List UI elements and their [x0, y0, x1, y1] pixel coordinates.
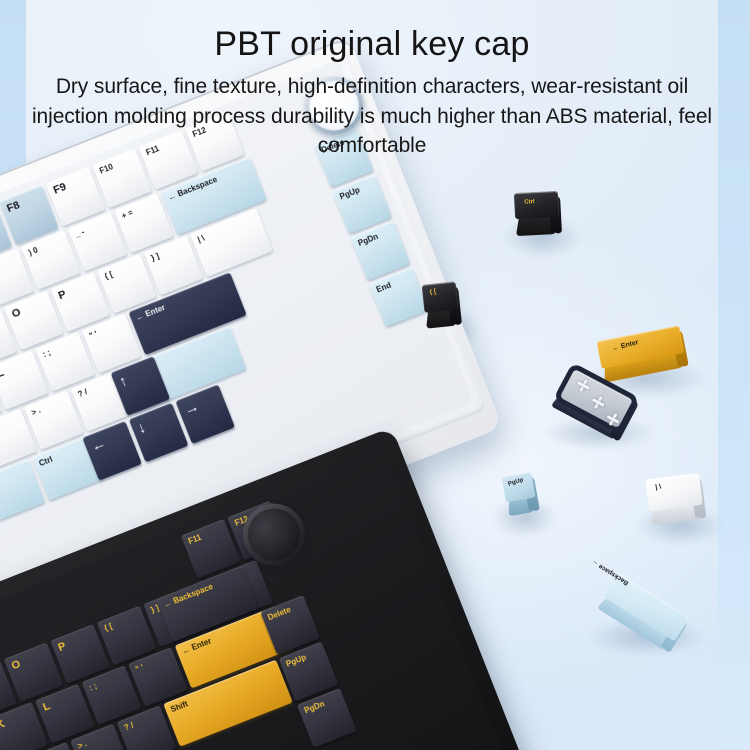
product-image-canvas: PBT original key cap Dry surface, fine t…	[0, 0, 750, 750]
floating-keycap[interactable]: { [	[422, 281, 461, 331]
floating-keycap[interactable]: Ctrl	[514, 191, 560, 239]
keycap-top-face	[645, 473, 702, 511]
keycap-top-face	[514, 191, 559, 219]
floating-keycap[interactable]: | \	[645, 473, 705, 528]
keycap-top-face	[501, 472, 535, 503]
background-right-strip	[718, 0, 750, 750]
keycap-top-face	[422, 281, 459, 312]
header-block: PBT original key cap Dry surface, fine t…	[26, 22, 718, 161]
page-subtitle: Dry surface, fine texture, high-definiti…	[26, 72, 718, 161]
page-title: PBT original key cap	[26, 22, 718, 66]
floating-keycap[interactable]: PgUp	[501, 472, 538, 520]
